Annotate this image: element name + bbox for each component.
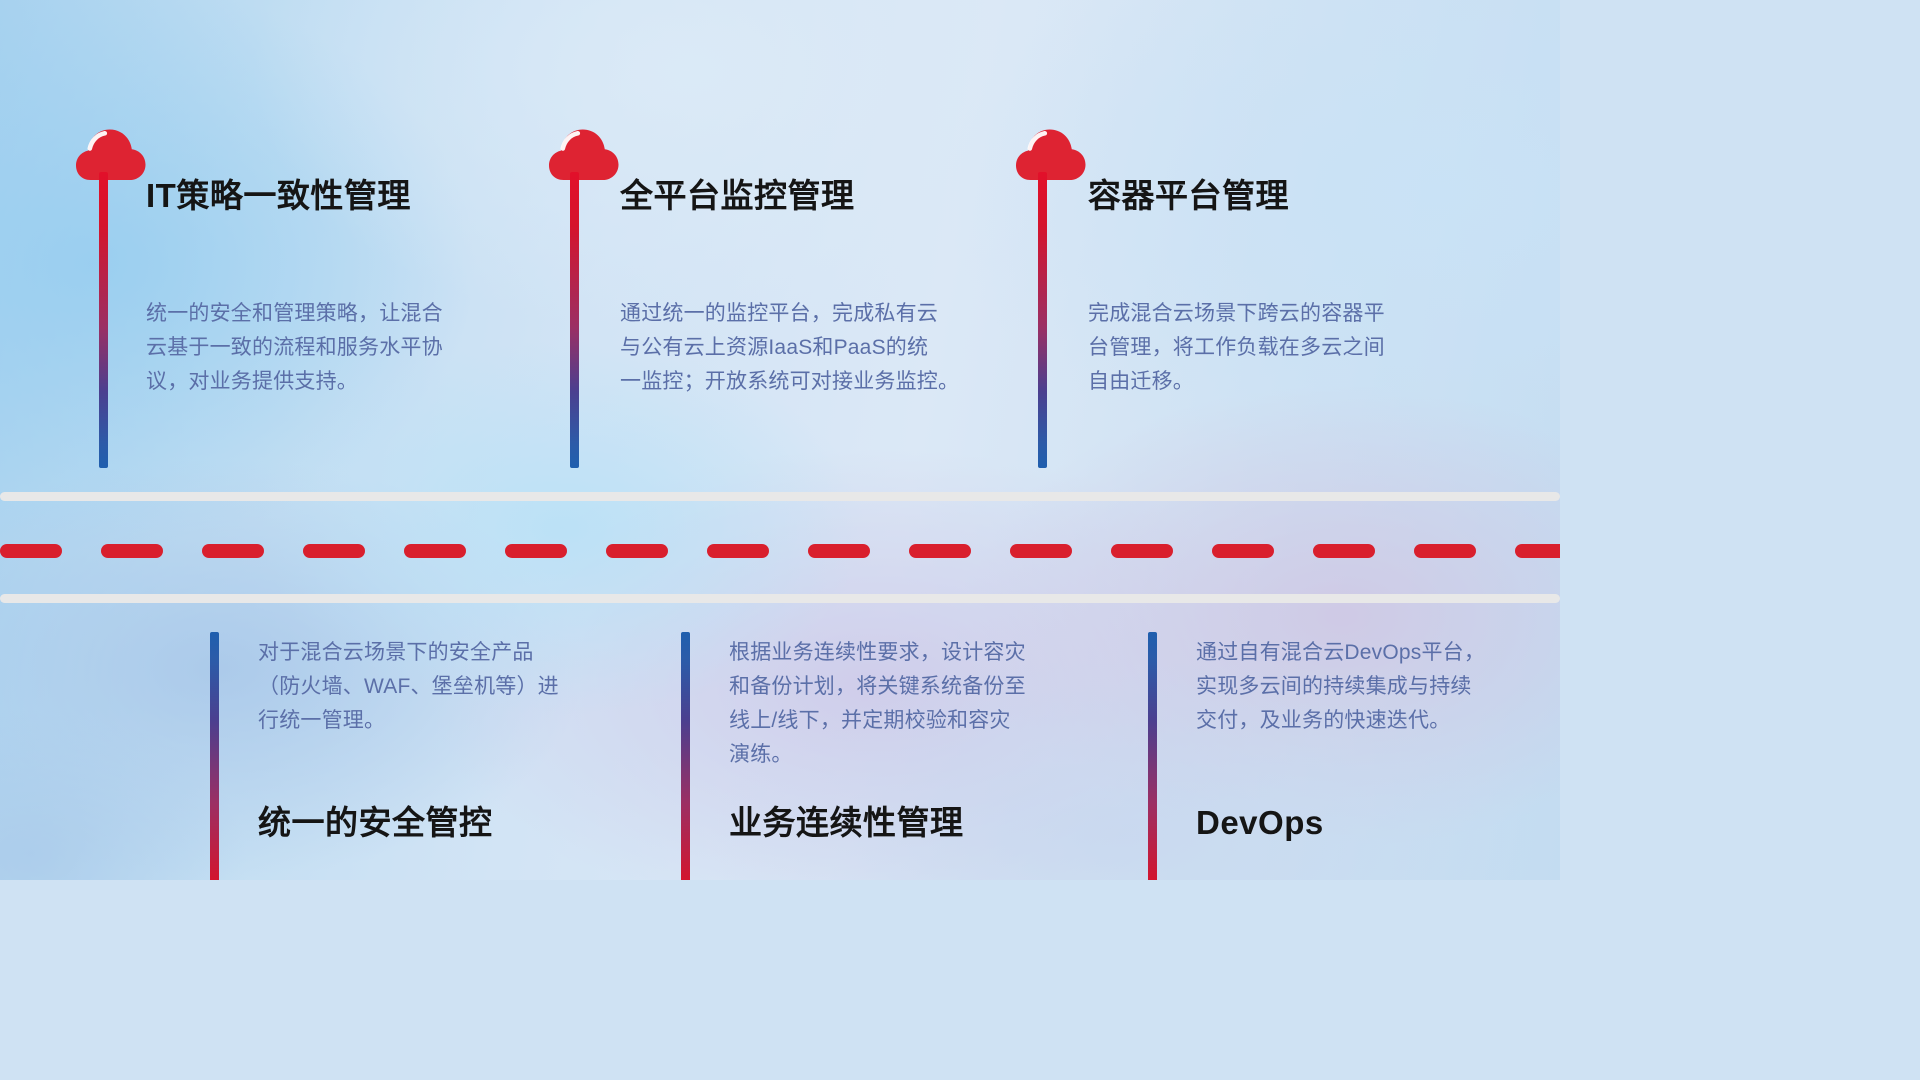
divider-dash <box>101 544 163 558</box>
item-title: 统一的安全管控 <box>258 806 493 839</box>
item-description: 对于混合云场景下的安全产品 （防火墙、WAF、堡垒机等）进 行统一管理。 <box>258 636 618 738</box>
divider-dash <box>606 544 668 558</box>
item-title: 全平台监控管理 <box>620 179 855 212</box>
divider-dash <box>909 544 971 558</box>
divider-dash <box>808 544 870 558</box>
cloud-icon <box>549 128 619 182</box>
timeline-stem <box>210 632 219 880</box>
divider-dashed-line <box>0 544 1560 558</box>
item-title: IT策略一致性管理 <box>146 179 411 212</box>
divider-dash <box>202 544 264 558</box>
timeline-stem <box>570 172 579 468</box>
divider-dash <box>404 544 466 558</box>
divider-dash <box>303 544 365 558</box>
timeline-stem <box>681 632 690 880</box>
item-description: 通过自有混合云DevOps平台， 实现多云间的持续集成与持续 交付，及业务的快速… <box>1196 636 1546 738</box>
item-description: 根据业务连续性要求，设计容灾 和备份计划，将关键系统备份至 线上/线下，并定期校… <box>729 636 1089 772</box>
divider-dash <box>1414 544 1476 558</box>
timeline-stem <box>1038 172 1047 468</box>
divider-dash <box>0 544 62 558</box>
divider-dash <box>1313 544 1375 558</box>
item-title: DevOps <box>1196 806 1324 839</box>
timeline-stem <box>99 172 108 468</box>
divider-dash <box>1212 544 1274 558</box>
cloud-icon <box>76 128 146 182</box>
divider-dash <box>707 544 769 558</box>
divider-line-bottom <box>0 594 1560 603</box>
item-description: 统一的安全和管理策略，让混合 云基于一致的流程和服务水平协 议，对业务提供支持。 <box>146 297 506 399</box>
cloud-icon <box>1016 128 1086 182</box>
divider-line-top <box>0 492 1560 501</box>
item-description: 完成混合云场景下跨云的容器平 台管理，将工作负载在多云之间 自由迁移。 <box>1088 297 1458 399</box>
item-description: 通过统一的监控平台，完成私有云 与公有云上资源IaaS和PaaS的统 一监控；开… <box>620 297 1010 399</box>
divider-dash <box>1010 544 1072 558</box>
divider-dash <box>505 544 567 558</box>
item-title: 容器平台管理 <box>1088 179 1289 212</box>
item-title: 业务连续性管理 <box>729 806 964 839</box>
divider-dash <box>1515 544 1560 558</box>
infographic-canvas: IT策略一致性管理 统一的安全和管理策略，让混合 云基于一致的流程和服务水平协 … <box>0 0 1560 880</box>
divider-dash <box>1111 544 1173 558</box>
timeline-stem <box>1148 632 1157 880</box>
